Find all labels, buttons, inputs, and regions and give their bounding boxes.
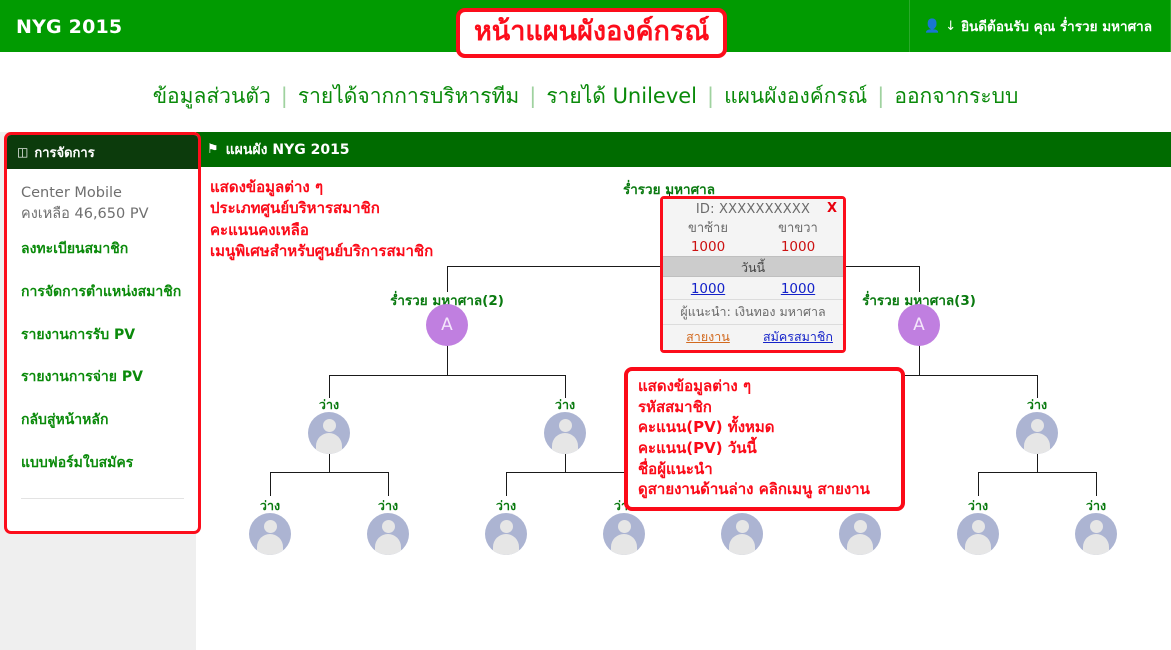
content-title: แผนผัง NYG 2015 [226,139,350,161]
avatar-body [847,534,873,555]
avatar-initial: A [441,315,453,335]
annotation-line: ดูสายงานด้านล่าง คลิกเมนู สายงาน [638,479,891,500]
sidebar-item-register-member[interactable]: ลงทะเบียนสมาชิก [21,241,184,258]
connector-line [978,472,979,496]
connector-line [506,472,507,496]
sidebar-divider [21,498,184,499]
connector-line [506,472,624,473]
nav-separator: | [870,84,891,108]
avatar-head [618,520,631,533]
connector-line [919,343,920,375]
avatar-body [552,433,578,454]
main-nav: ข้อมูลส่วนตัว | รายได้จากการบริหารทีม | … [0,52,1171,132]
tree-node-avatar-level2-right[interactable]: A [898,304,940,346]
arrow-down-icon: ↓ [945,20,956,33]
avatar-body [257,534,283,555]
popup-today-label: วันนี้ [663,256,843,277]
annotation-line: ชื่อผู้แนะนำ [638,459,891,480]
tree-node-avatar-level4-4[interactable] [603,513,645,555]
tree-node-avatar-level4-2[interactable] [367,513,409,555]
tree-node-avatar-level3-4[interactable] [1016,412,1058,454]
sidebar-item-back-home[interactable]: กลับสู่หน้าหลัก [21,412,184,429]
popup-right-leg-today[interactable]: 1000 [781,281,815,297]
annotation-boxed-callout: แสดงข้อมูลต่าง ๆ รหัสสมาชิก คะแนน(PV) ทั… [624,367,905,511]
user-welcome-area[interactable]: 👤 ↓ ยินดีต้อนรับ คุณ ร่ำรวย มหาศาล [909,0,1171,52]
avatar-head [264,520,277,533]
flag-icon: ⚑ [207,143,219,156]
nav-separator: | [274,84,295,108]
nav-item-unilevel-income[interactable]: รายได้ Unilevel [543,80,700,113]
sidebar-item-application-form[interactable]: แบบฟอร์มใบสมัคร [21,455,184,472]
annotation-line: คะแนน(PV) ทั้งหมด [638,417,891,438]
tree-node-avatar-level4-7[interactable] [957,513,999,555]
avatar-body [1083,534,1109,555]
avatar-body [493,534,519,555]
annotation-line: คะแนนคงเหลือ [210,220,433,241]
avatar-head [1031,419,1044,432]
connector-line [978,472,1096,473]
tree-node-avatar-level4-3[interactable] [485,513,527,555]
avatar-head [1090,520,1103,533]
person-icon: 👤 [924,20,940,33]
popup-leg-headers: ขาซ้าย 1000 ขาขวา 1000 [663,220,843,256]
nav-item-profile[interactable]: ข้อมูลส่วนตัว [150,80,274,113]
nav-item-team-income[interactable]: รายได้จากการบริหารทีม [295,80,522,113]
tree-node-avatar-level4-5[interactable] [721,513,763,555]
avatar-head [736,520,749,533]
pv-balance: คงเหลือ 46,650 PV [21,204,184,225]
tree-node-avatar-level4-6[interactable] [839,513,881,555]
nav-item-org-chart[interactable]: แผนผังองค์กรณ์ [721,80,870,113]
brand-logo[interactable]: NYG 2015 [16,16,122,38]
sidebar-item-pv-paid-report[interactable]: รายงานการจ่าย PV [21,369,184,386]
tree-node-avatar-level4-1[interactable] [249,513,291,555]
nav-separator: | [700,84,721,108]
connector-line [388,472,389,496]
avatar-body [1024,433,1050,454]
popup-action-links: สายงาน สมัครสมาชิก [663,324,843,350]
welcome-text: ยินดีต้อนรับ คุณ ร่ำรวย มหาศาล [961,15,1152,37]
avatar-head [972,520,985,533]
annotation-line: เมนูพิเศษสำหรับศูนย์บริการสมาชิก [210,241,433,262]
center-name: Center Mobile [21,183,184,204]
avatar-initial: A [913,315,925,335]
page-title-callout: หน้าแผนผังองค์กรณ์ [456,8,727,58]
nav-item-logout[interactable]: ออกจากระบบ [891,80,1021,113]
popup-id-row: ID: XXXXXXXXXX X [663,199,843,220]
connector-line [270,472,271,496]
connector-line [1096,472,1097,496]
tree-node-avatar-level3-1[interactable] [308,412,350,454]
content-header: ⚑ แผนผัง NYG 2015 [196,132,1171,167]
avatar-body [611,534,637,555]
annotation-line: แสดงข้อมูลต่าง ๆ [638,376,891,397]
tree-node-avatar-level3-2[interactable] [544,412,586,454]
avatar-body [729,534,755,555]
sidebar-panel: ◫ การจัดการ Center Mobile คงเหลือ 46,650… [4,132,201,534]
annotation-line: รหัสสมาชิก [638,397,891,418]
avatar-head [500,520,513,533]
avatar-head [559,419,572,432]
avatar-body [375,534,401,555]
annotation-left-text: แสดงข้อมูลต่าง ๆ ประเภทศูนย์บริหารสมาชิก… [210,177,433,262]
popup-left-leg-label: ขาซ้าย [663,220,753,238]
popup-link-register[interactable]: สมัครสมาชิก [763,329,833,344]
avatar-head [854,520,867,533]
close-icon[interactable]: X [827,201,837,216]
popup-member-id: ID: XXXXXXXXXX [696,202,810,217]
popup-right-leg-label: ขาขวา [753,220,843,238]
sidebar-body: Center Mobile คงเหลือ 46,650 PV ลงทะเบีย… [7,169,198,507]
page-title: หน้าแผนผังองค์กรณ์ [474,16,709,47]
popup-link-downline[interactable]: สายงาน [686,329,730,344]
popup-today-values: 1000 1000 [663,277,843,299]
avatar-body [316,433,342,454]
popup-left-leg-total: 1000 [663,238,753,256]
connector-line [447,343,448,375]
popup-right-leg-total: 1000 [753,238,843,256]
sidebar-item-pv-received-report[interactable]: รายงานการรับ PV [21,327,184,344]
annotation-line: ประเภทศูนย์บริหารสมาชิก [210,198,433,219]
tree-node-avatar-level2-left[interactable]: A [426,304,468,346]
sidebar-title: การจัดการ [34,142,94,163]
avatar-head [323,419,336,432]
popup-sponsor: ผู้แนะนำ: เงินทอง มหาศาล [663,299,843,324]
sidebar-header: ◫ การจัดการ [7,135,198,169]
avatar-head [382,520,395,533]
popup-left-leg-today[interactable]: 1000 [691,281,725,297]
sidebar-account-info: Center Mobile คงเหลือ 46,650 PV [21,183,184,225]
sidebar-item-manage-member-position[interactable]: การจัดการตำแหน่งสมาชิก [21,284,184,301]
org-chart-canvas: ร่ำรวย มหาศาล ร่ำรวย มหาศาล(2) A ร่ำรวย … [196,167,1171,650]
connector-line [329,375,565,376]
annotation-line: คะแนน(PV) วันนี้ [638,438,891,459]
connector-line [270,472,388,473]
cube-icon: ◫ [17,146,28,158]
annotation-line: แสดงข้อมูลต่าง ๆ [210,177,433,198]
member-info-popup: ID: XXXXXXXXXX X ขาซ้าย 1000 ขาขวา 1000 … [660,196,846,353]
tree-node-avatar-level4-8[interactable] [1075,513,1117,555]
avatar-body [965,534,991,555]
nav-separator: | [522,84,543,108]
